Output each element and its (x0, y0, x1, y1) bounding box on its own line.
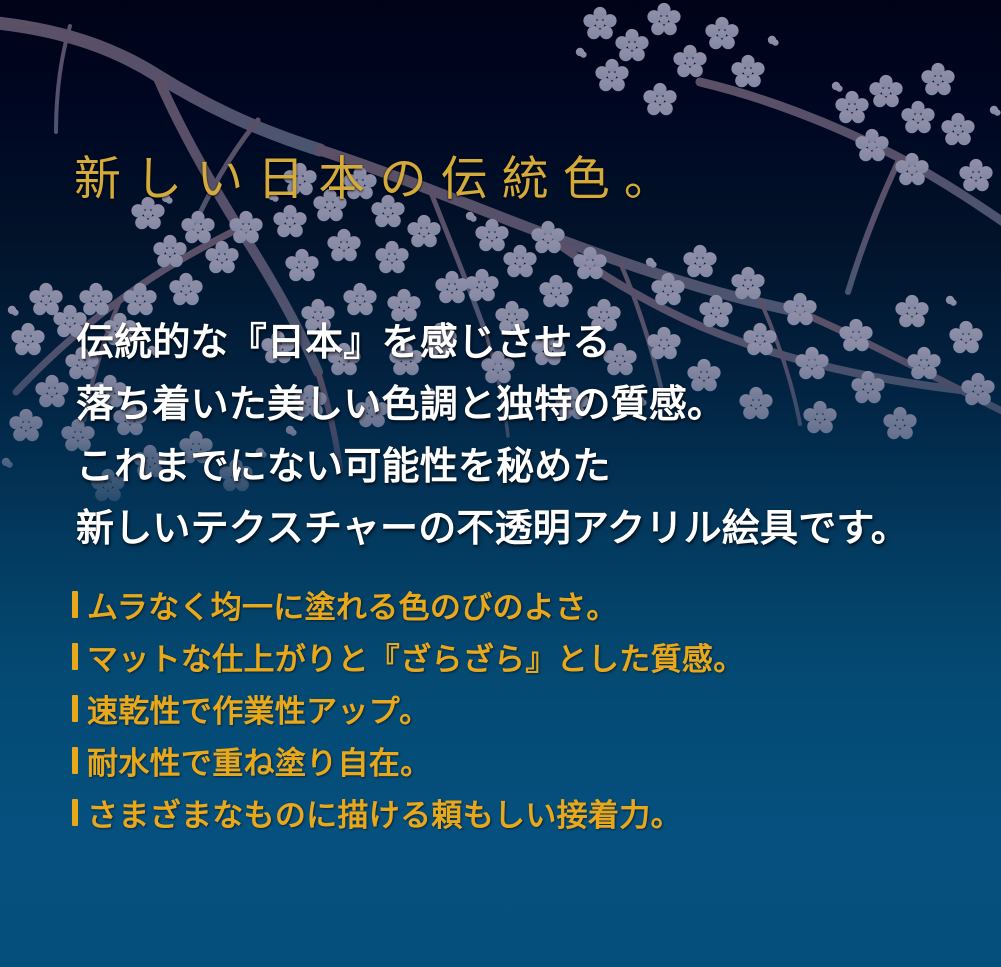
lede-line: 伝統的な『日本』を感じさせる (76, 312, 909, 374)
lede-line: 新しいテクスチャーの不透明アクリル絵具です。 (76, 498, 909, 560)
vertical-bar-icon (72, 643, 78, 670)
list-item: 耐水性で重ね塗り自在。 (72, 734, 745, 786)
lede-paragraph: 伝統的な『日本』を感じさせる 落ち着いた美しい色調と独特の質感。 これまでにない… (76, 312, 909, 560)
lede-line: 落ち着いた美しい色調と独特の質感。 (76, 374, 909, 436)
list-item: ムラなく均一に塗れる色のびのよさ。 (72, 578, 745, 630)
feature-label: マットな仕上がりと『ざらざら』とした質感。 (87, 634, 745, 679)
feature-label: さまざまなものに描ける頼もしい接着力。 (87, 790, 682, 835)
feature-label: 耐水性で重ね塗り自在。 (87, 738, 431, 783)
promo-banner: 新しい日本の伝統色。 伝統的な『日本』を感じさせる 落ち着いた美しい色調と独特の… (0, 0, 1001, 967)
list-item: 速乾性で作業性アップ。 (72, 682, 745, 734)
vertical-bar-icon (72, 591, 78, 618)
lede-line: これまでにない可能性を秘めた (76, 436, 909, 498)
vertical-bar-icon (72, 799, 78, 826)
vertical-bar-icon (72, 747, 78, 774)
feature-label: ムラなく均一に塗れる色のびのよさ。 (87, 582, 618, 627)
vertical-bar-icon (72, 695, 78, 722)
list-item: マットな仕上がりと『ざらざら』とした質感。 (72, 630, 745, 682)
list-item: さまざまなものに描ける頼もしい接着力。 (72, 786, 745, 838)
feature-label: 速乾性で作業性アップ。 (87, 686, 430, 731)
feature-list: ムラなく均一に塗れる色のびのよさ。 マットな仕上がりと『ざらざら』とした質感。 … (72, 578, 745, 838)
page-title: 新しい日本の伝統色。 (74, 157, 685, 204)
